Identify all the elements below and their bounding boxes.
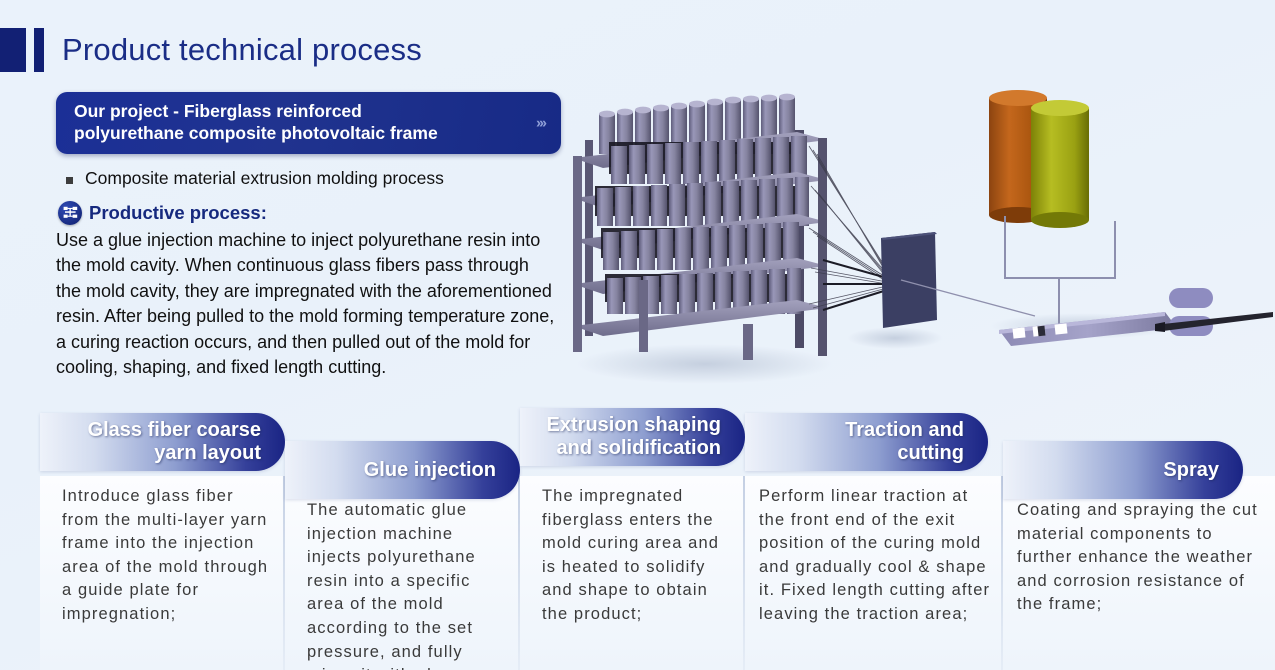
productive-process-label: Productive process: <box>89 202 267 224</box>
chevron-right-icon: ››› <box>536 114 545 131</box>
process-step-card-5[interactable]: Spray Coating and spraying the cut mater… <box>1003 413 1275 670</box>
process-step-title-1-line1: Glass fiber coarse <box>88 419 261 441</box>
process-step-card-3[interactable]: Extrusion shaping and solidification The… <box>520 413 745 670</box>
process-step-title-4[interactable]: Traction and cutting <box>745 413 988 471</box>
process-diagram-icon <box>58 201 82 225</box>
process-step-text-2: The automatic glue injection machine inj… <box>285 499 520 670</box>
process-step-title-5-line1: Spray <box>1163 459 1219 482</box>
process-step-title-3-line1: Extrusion shaping <box>547 414 721 436</box>
accent-gap <box>26 28 34 72</box>
process-steps-strip: Glass fiber coarse yarn layout Introduce… <box>40 413 1275 670</box>
accent-bar-wide <box>0 28 26 72</box>
process-step-title-1[interactable]: Glass fiber coarse yarn layout <box>40 413 285 471</box>
process-step-title-3[interactable]: Extrusion shaping and solidification <box>520 408 745 466</box>
page-header: Product technical process <box>0 28 422 72</box>
process-step-card-2[interactable]: Glue injection The automatic glue inject… <box>285 413 520 670</box>
bullet-square-icon <box>66 177 73 184</box>
page-title: Product technical process <box>62 32 422 68</box>
process-step-title-4-line1: Traction and <box>845 419 964 441</box>
process-step-title-1-line2: yarn layout <box>154 442 261 464</box>
productive-process-heading: Productive process: <box>58 201 568 225</box>
project-banner-text: Our project - Fiberglass reinforced poly… <box>74 101 438 145</box>
project-banner-line1: Our project - Fiberglass reinforced <box>74 101 438 123</box>
guide-plate <box>881 232 937 328</box>
process-step-title-4-line2: cutting <box>897 442 964 464</box>
process-step-card-1[interactable]: Glass fiber coarse yarn layout Introduce… <box>40 413 285 670</box>
left-content-column: Our project - Fiberglass reinforced poly… <box>56 92 568 381</box>
process-step-card-4[interactable]: Traction and cutting Perform linear trac… <box>745 413 1003 670</box>
resin-tanks <box>989 90 1089 228</box>
process-step-text-4: Perform linear traction at the front end… <box>745 471 1003 627</box>
process-step-title-5[interactable]: Spray <box>1003 441 1243 499</box>
productive-process-paragraph: Use a glue injection machine to inject p… <box>56 228 556 381</box>
bullet-item-label: Composite material extrusion molding pro… <box>85 168 444 189</box>
pultrusion-line-diagram <box>565 88 1275 398</box>
process-step-title-2-line1: Glue injection <box>364 459 496 482</box>
process-step-text-3: The impregnated fiberglass enters the mo… <box>520 466 745 627</box>
process-step-title-2[interactable]: Glue injection <box>285 441 520 499</box>
process-step-text-5: Coating and spraying the cut material co… <box>1003 499 1275 617</box>
bullet-item: Composite material extrusion molding pro… <box>60 168 568 189</box>
project-banner[interactable]: Our project - Fiberglass reinforced poly… <box>56 92 561 154</box>
process-step-title-3-line2: and solidification <box>557 437 721 459</box>
accent-bar-thin <box>34 28 44 72</box>
creel-rack <box>573 94 827 360</box>
process-step-text-1: Introduce glass fiber from the multi-lay… <box>40 471 285 627</box>
project-banner-line2: polyurethane composite photovoltaic fram… <box>74 123 438 145</box>
